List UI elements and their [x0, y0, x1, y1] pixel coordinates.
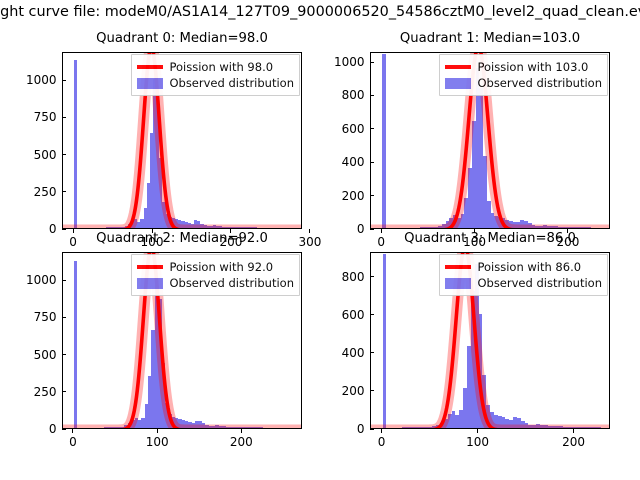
legend-entry-fit: Poission with 86.0 — [445, 259, 602, 275]
line-swatch-icon — [137, 260, 163, 274]
y-tick-mark — [62, 80, 66, 81]
legend-label-observed: Observed distribution — [477, 76, 602, 90]
y-tick-mark — [370, 314, 374, 315]
line-swatch-icon — [137, 60, 163, 74]
y-tick-mark — [370, 229, 374, 230]
legend-entry-observed: Observed distribution — [137, 75, 294, 91]
legend-label-fit: Poission with 86.0 — [477, 260, 581, 274]
y-tick-label: 750 — [34, 309, 57, 325]
y-tick-label: 250 — [34, 184, 57, 200]
legend-label-fit: Poission with 92.0 — [169, 260, 273, 274]
legend-entry-observed: Observed distribution — [137, 275, 294, 291]
y-tick-label: 800 — [342, 87, 365, 103]
legend-entry-fit: Poission with 98.0 — [137, 59, 294, 75]
x-tick-label: 0 — [378, 434, 386, 450]
x-tick-label: 100 — [146, 434, 169, 450]
x-tick-label: 0 — [377, 234, 385, 250]
legend-entry-observed: Observed distribution — [445, 275, 602, 291]
subplot-quadrant-0: Quadrant 0: Median=98.0Poission with 98.… — [62, 52, 302, 229]
y-tick-mark — [370, 390, 374, 391]
y-tick-label: 200 — [342, 188, 365, 204]
y-tick-mark — [62, 429, 66, 430]
legend-label-observed: Observed distribution — [169, 276, 294, 290]
patch-swatch-icon — [445, 276, 471, 290]
y-tick-mark — [62, 191, 66, 192]
y-tick-mark — [62, 280, 66, 281]
x-tick-label: 300 — [298, 234, 321, 250]
y-tick-mark — [62, 317, 66, 318]
x-tick-label: 100 — [466, 434, 489, 450]
y-tick-mark — [370, 276, 374, 277]
x-tick-mark — [477, 429, 478, 433]
legend-entry-fit: Poission with 92.0 — [137, 259, 294, 275]
y-tick-mark — [370, 95, 374, 96]
y-tick-label: 0 — [357, 221, 365, 237]
x-tick-mark — [573, 429, 574, 433]
x-tick-label: 0 — [69, 434, 77, 450]
y-tick-label: 0 — [49, 421, 57, 437]
x-tick-mark — [381, 429, 382, 433]
subplot-quadrant-3: Quadrant 3: Median=86.0Poission with 86.… — [370, 252, 610, 429]
x-tick-mark — [381, 229, 382, 233]
matplotlib-figure: Light curve file: modeM0/AS1A14_127T09_9… — [0, 0, 640, 480]
y-tick-mark — [62, 391, 66, 392]
y-tick-label: 1000 — [26, 72, 57, 88]
legend: Poission with 86.0Observed distribution — [439, 254, 608, 296]
subplot-title: Quadrant 1: Median=103.0 — [400, 31, 580, 46]
y-tick-label: 400 — [342, 345, 365, 361]
y-tick-label: 200 — [342, 383, 365, 399]
legend: Poission with 92.0Observed distribution — [131, 254, 300, 296]
legend-label-observed: Observed distribution — [477, 276, 602, 290]
y-tick-mark — [62, 354, 66, 355]
legend-label-observed: Observed distribution — [169, 76, 294, 90]
legend-entry-fit: Poission with 103.0 — [445, 59, 602, 75]
y-tick-mark — [370, 352, 374, 353]
y-tick-label: 500 — [34, 147, 57, 163]
legend-label-fit: Poission with 98.0 — [169, 60, 273, 74]
y-tick-mark — [370, 162, 374, 163]
x-tick-label: 0 — [69, 234, 77, 250]
figure-suptitle: Light curve file: modeM0/AS1A14_127T09_9… — [0, 4, 640, 20]
subplot-title: Quadrant 2: Median=92.0 — [96, 231, 268, 246]
y-tick-label: 800 — [342, 269, 365, 285]
line-swatch-icon — [445, 60, 471, 74]
y-tick-label: 750 — [34, 109, 57, 125]
subplot-quadrant-2: Quadrant 2: Median=92.0Poission with 92.… — [62, 252, 302, 429]
y-tick-mark — [62, 229, 66, 230]
y-tick-label: 600 — [342, 121, 365, 137]
x-tick-label: 200 — [562, 434, 585, 450]
patch-swatch-icon — [137, 76, 163, 90]
y-tick-mark — [370, 429, 374, 430]
y-tick-label: 0 — [49, 221, 57, 237]
legend-label-fit: Poission with 103.0 — [477, 60, 588, 74]
y-tick-label: 1000 — [334, 54, 365, 70]
y-tick-label: 500 — [34, 347, 57, 363]
subplot-quadrant-1: Quadrant 1: Median=103.0Poission with 10… — [370, 52, 610, 229]
y-tick-mark — [62, 117, 66, 118]
subplot-title: Quadrant 0: Median=98.0 — [96, 31, 268, 46]
y-tick-mark — [370, 128, 374, 129]
x-tick-mark — [157, 429, 158, 433]
subplot-title: Quadrant 3: Median=86.0 — [404, 231, 576, 246]
y-tick-mark — [370, 62, 374, 63]
y-tick-mark — [62, 154, 66, 155]
x-tick-label: 200 — [230, 434, 253, 450]
x-tick-mark — [73, 229, 74, 233]
patch-swatch-icon — [137, 276, 163, 290]
x-tick-mark — [309, 229, 310, 233]
y-tick-mark — [370, 195, 374, 196]
patch-swatch-icon — [445, 76, 471, 90]
x-tick-mark — [72, 429, 73, 433]
y-tick-label: 600 — [342, 307, 365, 323]
y-tick-label: 0 — [357, 421, 365, 437]
line-swatch-icon — [445, 260, 471, 274]
legend-entry-observed: Observed distribution — [445, 75, 602, 91]
y-tick-label: 250 — [34, 384, 57, 400]
y-tick-label: 400 — [342, 154, 365, 170]
x-tick-mark — [241, 429, 242, 433]
y-tick-label: 1000 — [26, 272, 57, 288]
legend: Poission with 98.0Observed distribution — [131, 54, 300, 96]
legend: Poission with 103.0Observed distribution — [439, 54, 608, 96]
